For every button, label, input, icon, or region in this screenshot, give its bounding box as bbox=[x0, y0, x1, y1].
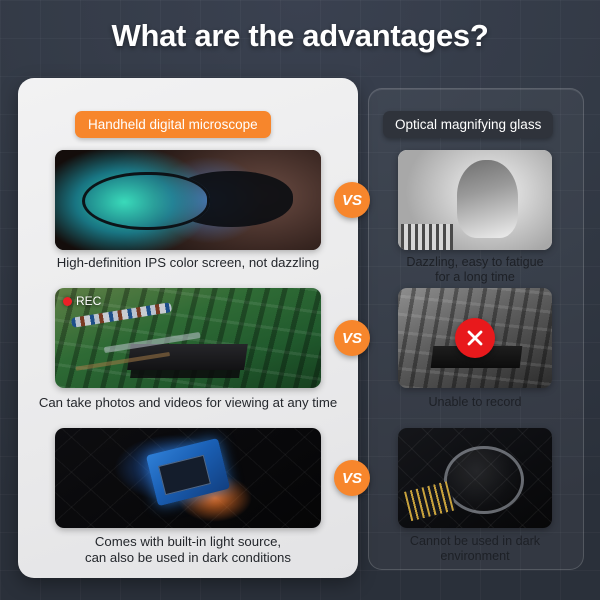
left-caption-row3: Comes with built-in light source, can al… bbox=[18, 534, 358, 566]
right-caption-row3: Cannot be used in dark environment bbox=[368, 534, 582, 564]
eye-fatigue-photo bbox=[398, 150, 552, 250]
left-image-row2: REC bbox=[55, 288, 321, 388]
right-caption-row1: Dazzling, easy to fatigue for a long tim… bbox=[368, 255, 582, 285]
left-caption-row3-line2: can also be used in dark conditions bbox=[18, 550, 358, 566]
left-caption-row2: Can take photos and videos for viewing a… bbox=[18, 395, 358, 411]
rec-indicator: REC bbox=[63, 294, 101, 308]
right-image-row2 bbox=[398, 288, 552, 388]
left-image-row3 bbox=[55, 428, 321, 528]
magnifier-dark-photo bbox=[398, 428, 552, 528]
vs-badge-row3: VS bbox=[334, 460, 370, 496]
infographic-stage: What are the advantages? Handheld digita… bbox=[0, 0, 600, 600]
glasses-screen-reflection-photo bbox=[55, 150, 321, 250]
right-caption-row3-line1: Cannot be used in dark bbox=[368, 534, 582, 549]
rec-label: REC bbox=[76, 294, 101, 308]
right-caption-row3-line2: environment bbox=[368, 549, 582, 564]
vs-badge-row1: VS bbox=[334, 182, 370, 218]
left-caption-row3-line1: Comes with built-in light source, bbox=[18, 534, 358, 550]
microscope-dark-lightsource-photo bbox=[55, 428, 321, 528]
right-caption-row2: Unable to record bbox=[368, 395, 582, 410]
left-image-row1 bbox=[55, 150, 321, 250]
right-caption-row1-line2: for a long time bbox=[368, 270, 582, 285]
right-image-row3 bbox=[398, 428, 552, 528]
right-image-row1 bbox=[398, 150, 552, 250]
rec-dot-icon bbox=[63, 297, 72, 306]
vs-badge-row2: VS bbox=[334, 320, 370, 356]
right-caption-row1-line1: Dazzling, easy to fatigue bbox=[368, 255, 582, 270]
column-header-left: Handheld digital microscope bbox=[75, 111, 271, 138]
x-mark-icon bbox=[455, 318, 495, 358]
column-header-right: Optical magnifying glass bbox=[383, 111, 553, 138]
left-caption-row1: High-definition IPS color screen, not da… bbox=[18, 255, 358, 271]
page-title: What are the advantages? bbox=[0, 18, 600, 54]
